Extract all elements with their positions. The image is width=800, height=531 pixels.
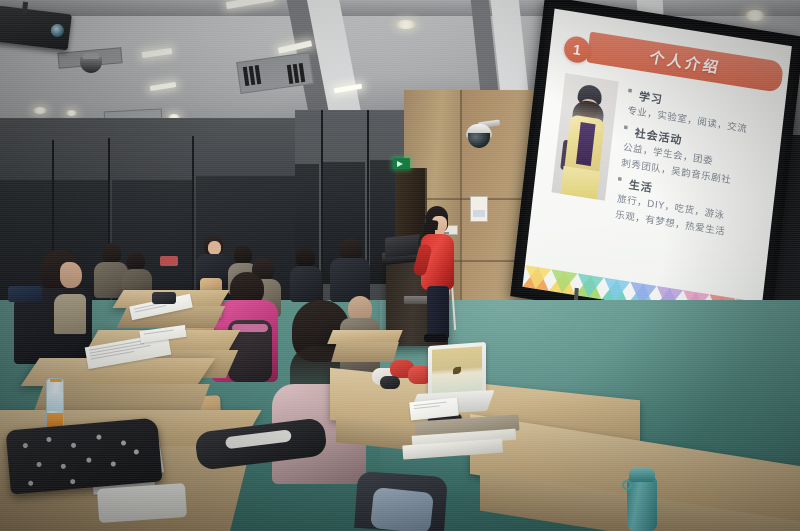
exit-sign	[393, 158, 410, 169]
water-bottle[interactable]	[627, 478, 657, 531]
bottle-label	[47, 393, 63, 411]
recessed-light	[33, 107, 47, 114]
ceiling-strip-light	[142, 48, 173, 58]
ceiling-strip-light	[150, 82, 176, 91]
bag[interactable]	[8, 286, 42, 302]
recessed-light	[745, 10, 765, 21]
ceiling-dome-camera	[80, 57, 102, 73]
bag[interactable]	[152, 292, 176, 304]
recessed-light	[396, 20, 416, 29]
audience-person	[290, 248, 322, 300]
book-stack[interactable]	[415, 414, 522, 463]
laptop-screen	[432, 346, 482, 393]
small-item[interactable]	[160, 256, 178, 266]
projection-screen: 个人介绍 1 学习 专业，实验室，阅读，交流	[510, 0, 800, 337]
audience-person-front-left	[14, 250, 92, 360]
triangle-swatch	[575, 273, 604, 299]
desk-front	[331, 342, 399, 362]
tissue-pack[interactable]	[97, 483, 187, 523]
bottle-cap	[50, 378, 62, 382]
lecture-hall-photo: 个人介绍 1 学习 专业，实验室，阅读，交流	[0, 0, 800, 531]
slide-portrait-photo	[551, 73, 618, 201]
laptop-lid	[428, 342, 486, 398]
folded-scarf	[370, 487, 434, 531]
slide-title: 个人介绍	[647, 46, 723, 78]
wall-notice-plate	[470, 196, 488, 222]
triangle-swatch	[522, 265, 551, 291]
presentation-slide: 个人介绍 1 学习 专业，实验室，阅读，交流	[522, 9, 791, 325]
bottle-cap	[629, 468, 655, 482]
polka-dot-bag[interactable]	[6, 417, 163, 494]
recessed-light	[66, 110, 77, 116]
presenter	[414, 206, 460, 341]
slide-body-text: 学习 专业，实验室，阅读，交流 社会活动 公益，学生会，团委 刺秀团队，吴韵音乐…	[612, 81, 775, 245]
triangle-swatch	[549, 269, 578, 295]
projector-lens-icon	[50, 23, 64, 37]
audience-person	[330, 238, 370, 298]
bottle-handle	[622, 480, 632, 490]
dome-camera-icon	[466, 118, 496, 152]
